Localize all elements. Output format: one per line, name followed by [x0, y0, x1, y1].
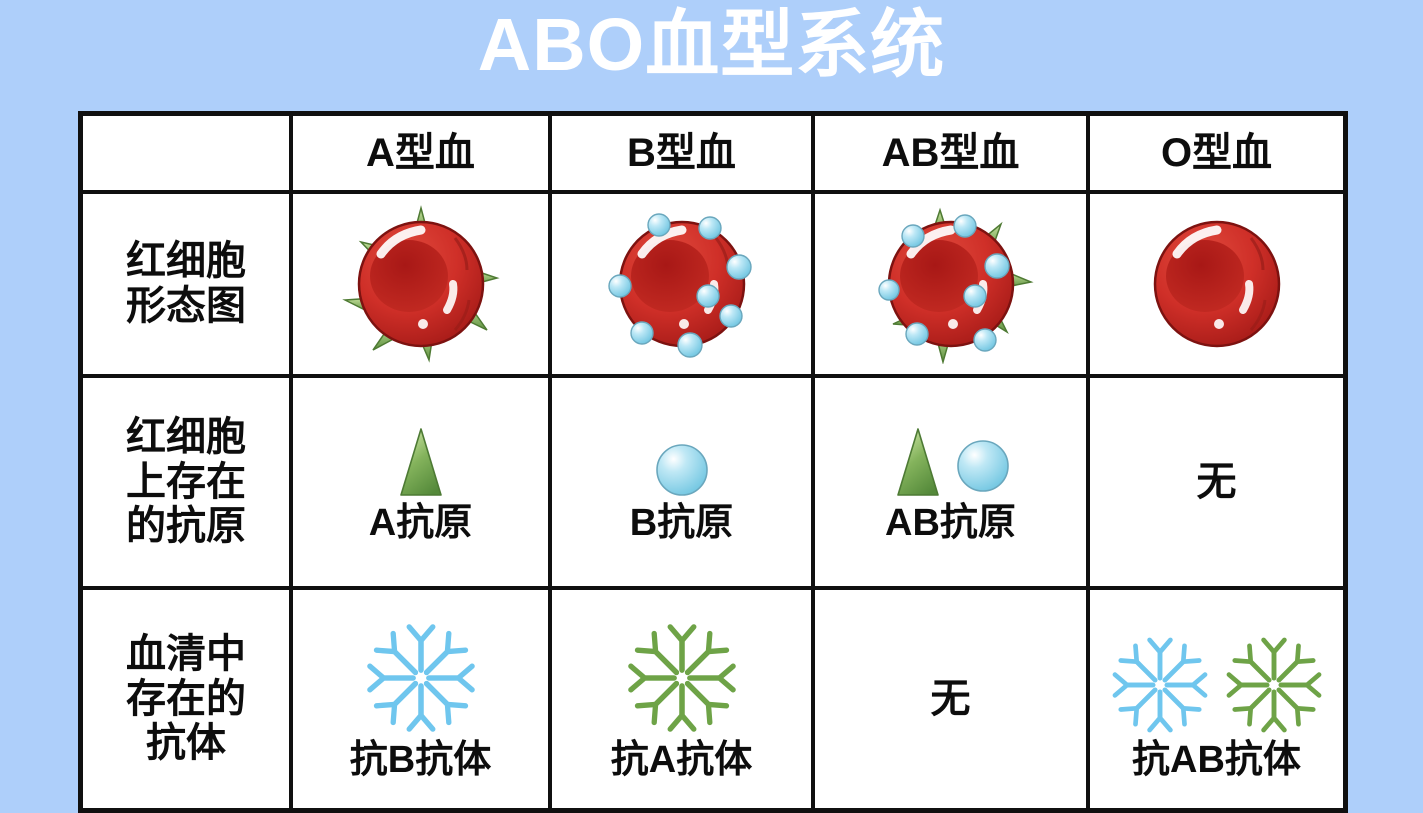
header-cell-type-o: O型血	[1088, 116, 1343, 192]
page-title: ABO血型系统	[0, 8, 1423, 82]
glyph-row	[891, 422, 1011, 500]
cell-inner: B抗原	[552, 378, 811, 586]
row-label-rbc-morphology: 红细胞 形态图	[83, 192, 291, 376]
caption-antibody-ab-none: 无	[931, 679, 971, 719]
caption-antibody-anti-b: 抗B抗体	[350, 741, 491, 779]
table-header-row: A型血 B型血 AB型血 O型血	[83, 116, 1343, 192]
cell-antigen-type-b: B抗原	[550, 376, 813, 588]
rbc-with-b-antigens-icon	[598, 204, 766, 364]
row-label-antigens: 红细胞 上存在 的抗原	[83, 376, 291, 588]
cell-inner: 抗A抗体	[552, 590, 811, 808]
table-row-antibodies: 血清中 存在的 抗体	[83, 588, 1343, 808]
row-label-line: 存在的	[83, 677, 289, 722]
table-row-rbc-morphology: 红细胞 形态图	[83, 192, 1343, 376]
header-label-b: B型血	[627, 131, 736, 175]
glyph-row	[1108, 619, 1326, 737]
header-cell-type-a: A型血	[291, 116, 550, 192]
cell-inner: 抗B抗体	[293, 590, 548, 808]
cell-inner: 无	[815, 590, 1086, 808]
row-label-text-rbc-morphology: 红细胞 形态图	[83, 239, 289, 329]
rbc-plain-icon	[1142, 209, 1292, 359]
row-label-line: 红细胞	[83, 239, 289, 284]
antibody-star-green-icon	[1222, 633, 1326, 737]
cell-inner: 无	[1090, 378, 1343, 586]
cell-rbc-type-ab	[813, 192, 1088, 376]
header-cell-empty	[83, 116, 291, 192]
cell-inner: 抗AB抗体	[1090, 590, 1343, 808]
table-row-antigens: 红细胞 上存在 的抗原	[83, 376, 1343, 588]
cell-rbc-type-b	[550, 192, 813, 376]
row-label-line: 上存在	[83, 460, 289, 505]
antigen-b-sphere-icon	[955, 426, 1011, 500]
rbc-with-ab-antigens-icon	[865, 204, 1037, 364]
cell-inner: AB抗原	[815, 378, 1086, 586]
antigen-a-cone-icon	[891, 426, 945, 500]
header-cell-type-ab: AB型血	[813, 116, 1088, 192]
abo-table: A型血 B型血 AB型血 O型血 红细胞 形态图	[83, 116, 1343, 808]
row-label-line: 抗体	[83, 721, 289, 766]
glyph-row	[621, 619, 743, 737]
caption-antibody-anti-a: 抗A抗体	[611, 741, 752, 779]
cell-antibody-type-o: 抗AB抗体	[1088, 588, 1343, 808]
cell-antibody-type-a: 抗B抗体	[291, 588, 550, 808]
cell-inner	[552, 194, 811, 374]
header-cell-type-b: B型血	[550, 116, 813, 192]
caption-antigen-b: B抗原	[630, 504, 733, 542]
cell-antigen-type-o: 无	[1088, 376, 1343, 588]
row-label-antibodies: 血清中 存在的 抗体	[83, 588, 291, 808]
cell-antibody-type-b: 抗A抗体	[550, 588, 813, 808]
antigen-b-sphere-icon	[654, 426, 710, 500]
cell-rbc-type-a	[291, 192, 550, 376]
glyph-row	[654, 422, 710, 500]
glyph-row	[360, 619, 482, 737]
cell-rbc-type-o	[1088, 192, 1343, 376]
cell-antigen-type-a: A抗原	[291, 376, 550, 588]
antibody-star-green-icon	[621, 619, 743, 737]
glyph-row	[394, 422, 448, 500]
cell-inner	[293, 194, 548, 374]
header-label-o: O型血	[1161, 131, 1272, 175]
caption-antigen-o-none: 无	[1197, 462, 1237, 502]
cell-antibody-type-ab: 无	[813, 588, 1088, 808]
antigen-a-cone-icon	[394, 426, 448, 500]
rbc-with-a-antigens-icon	[337, 204, 505, 364]
cell-inner: A抗原	[293, 378, 548, 586]
caption-antigen-a: A抗原	[369, 504, 472, 542]
antibody-star-blue-icon	[360, 619, 482, 737]
row-label-line: 的抗原	[83, 504, 289, 549]
abo-blood-type-chart: ABO血型系统 A型血 B型血 AB型血 O型血	[0, 0, 1423, 809]
row-label-line: 红细胞	[83, 415, 289, 460]
caption-antibody-anti-ab: 抗AB抗体	[1132, 741, 1301, 779]
cell-antigen-type-ab: AB抗原	[813, 376, 1088, 588]
row-label-line: 血清中	[83, 632, 289, 677]
row-label-line: 形态图	[83, 284, 289, 329]
row-label-text-antigens: 红细胞 上存在 的抗原	[83, 415, 289, 549]
cell-inner	[1090, 194, 1343, 374]
header-label-ab: AB型血	[882, 131, 1020, 175]
row-label-text-antibodies: 血清中 存在的 抗体	[83, 632, 289, 766]
caption-antigen-ab: AB抗原	[885, 504, 1016, 542]
header-label-a: A型血	[366, 131, 475, 175]
antibody-star-blue-icon	[1108, 633, 1212, 737]
abo-table-container: A型血 B型血 AB型血 O型血 红细胞 形态图	[78, 111, 1348, 813]
cell-inner	[815, 194, 1086, 374]
